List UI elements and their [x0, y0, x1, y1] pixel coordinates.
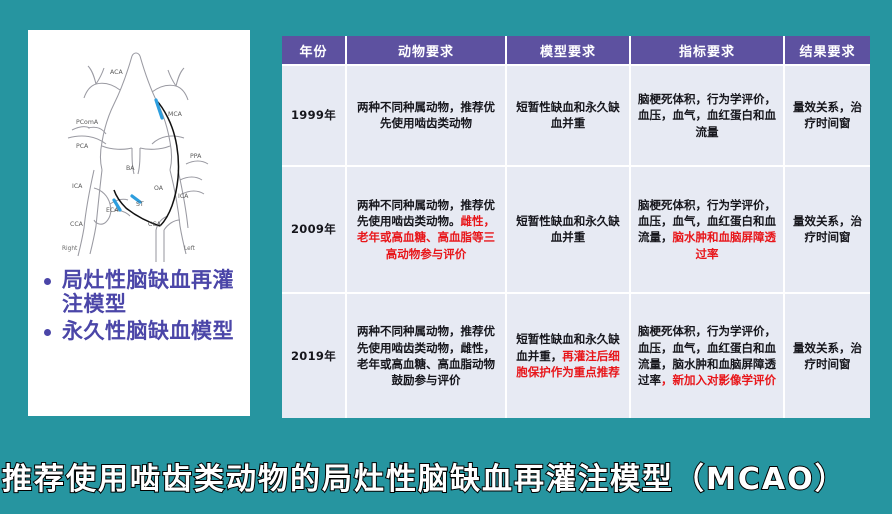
list-item: 永久性脑缺血模型: [42, 319, 244, 343]
highlight-text: 脑水肿和血脑屏障透过率: [673, 230, 777, 260]
model-cell: 短暂性缺血和永久缺血并重，再灌注后细胞保护作为重点推荐: [506, 293, 630, 418]
highlight-text: ，新加入对影像学评价: [661, 373, 776, 387]
normal-text: 量效关系，治疗时间窗: [793, 100, 862, 130]
label-pcoma: PComA: [76, 119, 99, 126]
column-header-index: 指标要求: [630, 36, 784, 65]
label-ba: BA: [126, 165, 135, 172]
column-header-model: 模型要求: [506, 36, 630, 65]
label-eca: ECA: [106, 207, 119, 214]
banner-text: 推荐使用啮齿类动物的局灶性脑缺血再灌注模型（MCAO）: [0, 454, 847, 498]
animal-cell: 两种不同种属动物，推荐优先使用啮齿类动物，雌性，老年或高血糖、高血脂动物鼓励参与…: [346, 293, 506, 418]
index-cell: 脑梗死体积，行为学评价，血压，血气，血红蛋白和血流量，脑水肿和血脑屏障透过率: [630, 166, 784, 293]
label-st: ST: [136, 201, 144, 208]
label-aca: ACA: [110, 69, 123, 76]
model-bullet-list: 局灶性脑缺血再灌注模型 永久性脑缺血模型: [28, 268, 250, 345]
left-figure-panel: ACA MCA PComA PCA PPA BA OA ICA ICA ECA …: [28, 30, 250, 416]
cerebral-artery-svg: ACA MCA PComA PCA PPA BA OA ICA ICA ECA …: [28, 30, 250, 268]
bullet-text-0: 局灶性脑缺血再灌注模型: [62, 268, 234, 316]
normal-text: 两种不同种属动物，推荐优先使用啮齿类动物，雌性，老年或高血糖、高血脂动物鼓励参与…: [357, 324, 495, 387]
label-ica-left: ICA: [178, 193, 189, 200]
label-ppa: PPA: [190, 153, 202, 160]
column-header-result: 结果要求: [784, 36, 870, 65]
label-mca: MCA: [168, 111, 183, 118]
table-row: 2019年两种不同种属动物，推荐优先使用啮齿类动物，雌性，老年或高血糖、高血脂动…: [282, 293, 870, 418]
model-cell: 短暂性缺血和永久缺血并重: [506, 65, 630, 166]
result-cell: 量效关系，治疗时间窗: [784, 65, 870, 166]
year-cell: 2019年: [282, 293, 346, 418]
table-header-row: 年份 动物要求 模型要求 指标要求 结果要求: [282, 36, 870, 65]
normal-text: 量效关系，治疗时间窗: [793, 214, 862, 244]
result-cell: 量效关系，治疗时间窗: [784, 293, 870, 418]
year-cell: 2009年: [282, 166, 346, 293]
column-header-animal: 动物要求: [346, 36, 506, 65]
normal-text: 短暂性缺血和永久缺血并重: [516, 214, 620, 244]
label-ica-right: ICA: [72, 183, 83, 190]
animal-cell: 两种不同种属动物，推荐优先使用啮齿类动物。雌性，老年或高血糖、高血脂等三高动物参…: [346, 166, 506, 293]
normal-text: 量效关系，治疗时间窗: [793, 341, 862, 371]
label-side-left: Left: [184, 246, 196, 252]
label-side-right: Right: [62, 246, 78, 252]
cerebral-artery-diagram: ACA MCA PComA PCA PPA BA OA ICA ICA ECA …: [28, 30, 250, 268]
label-pca: PCA: [76, 143, 89, 150]
result-cell: 量效关系，治疗时间窗: [784, 166, 870, 293]
index-cell: 脑梗死体积，行为学评价，血压，血气，血红蛋白和血流量，脑水肿和血脑屏障透过率，新…: [630, 293, 784, 418]
index-cell: 脑梗死体积，行为学评价，血压，血气，血红蛋白和血流量: [630, 65, 784, 166]
table-body: 1999年两种不同种属动物，推荐优先使用啮齿类动物短暂性缺血和永久缺血并重脑梗死…: [282, 65, 870, 418]
animal-cell: 两种不同种属动物，推荐优先使用啮齿类动物: [346, 65, 506, 166]
normal-text: 两种不同种属动物，推荐优先使用啮齿类动物: [357, 100, 495, 130]
requirements-table: 年份 动物要求 模型要求 指标要求 结果要求 1999年两种不同种属动物，推荐优…: [282, 36, 870, 418]
model-cell: 短暂性缺血和永久缺血并重: [506, 166, 630, 293]
table-row: 2009年两种不同种属动物，推荐优先使用啮齿类动物。雌性，老年或高血糖、高血脂等…: [282, 166, 870, 293]
label-cca-left: CCA: [148, 221, 162, 228]
label-oa: OA: [154, 185, 164, 192]
bottom-banner: 推荐使用啮齿类动物的局灶性脑缺血再灌注模型（MCAO）: [0, 437, 892, 514]
list-item: 局灶性脑缺血再灌注模型: [42, 268, 244, 317]
normal-text: 脑梗死体积，行为学评价，血压，血气，血红蛋白和血流量: [638, 92, 776, 139]
bullet-text-1: 永久性脑缺血模型: [62, 319, 234, 343]
year-cell: 1999年: [282, 65, 346, 166]
normal-text: 短暂性缺血和永久缺血并重: [516, 100, 620, 130]
table-row: 1999年两种不同种属动物，推荐优先使用啮齿类动物短暂性缺血和永久缺血并重脑梗死…: [282, 65, 870, 166]
label-cca-right: CCA: [70, 221, 84, 228]
column-header-year: 年份: [282, 36, 346, 65]
